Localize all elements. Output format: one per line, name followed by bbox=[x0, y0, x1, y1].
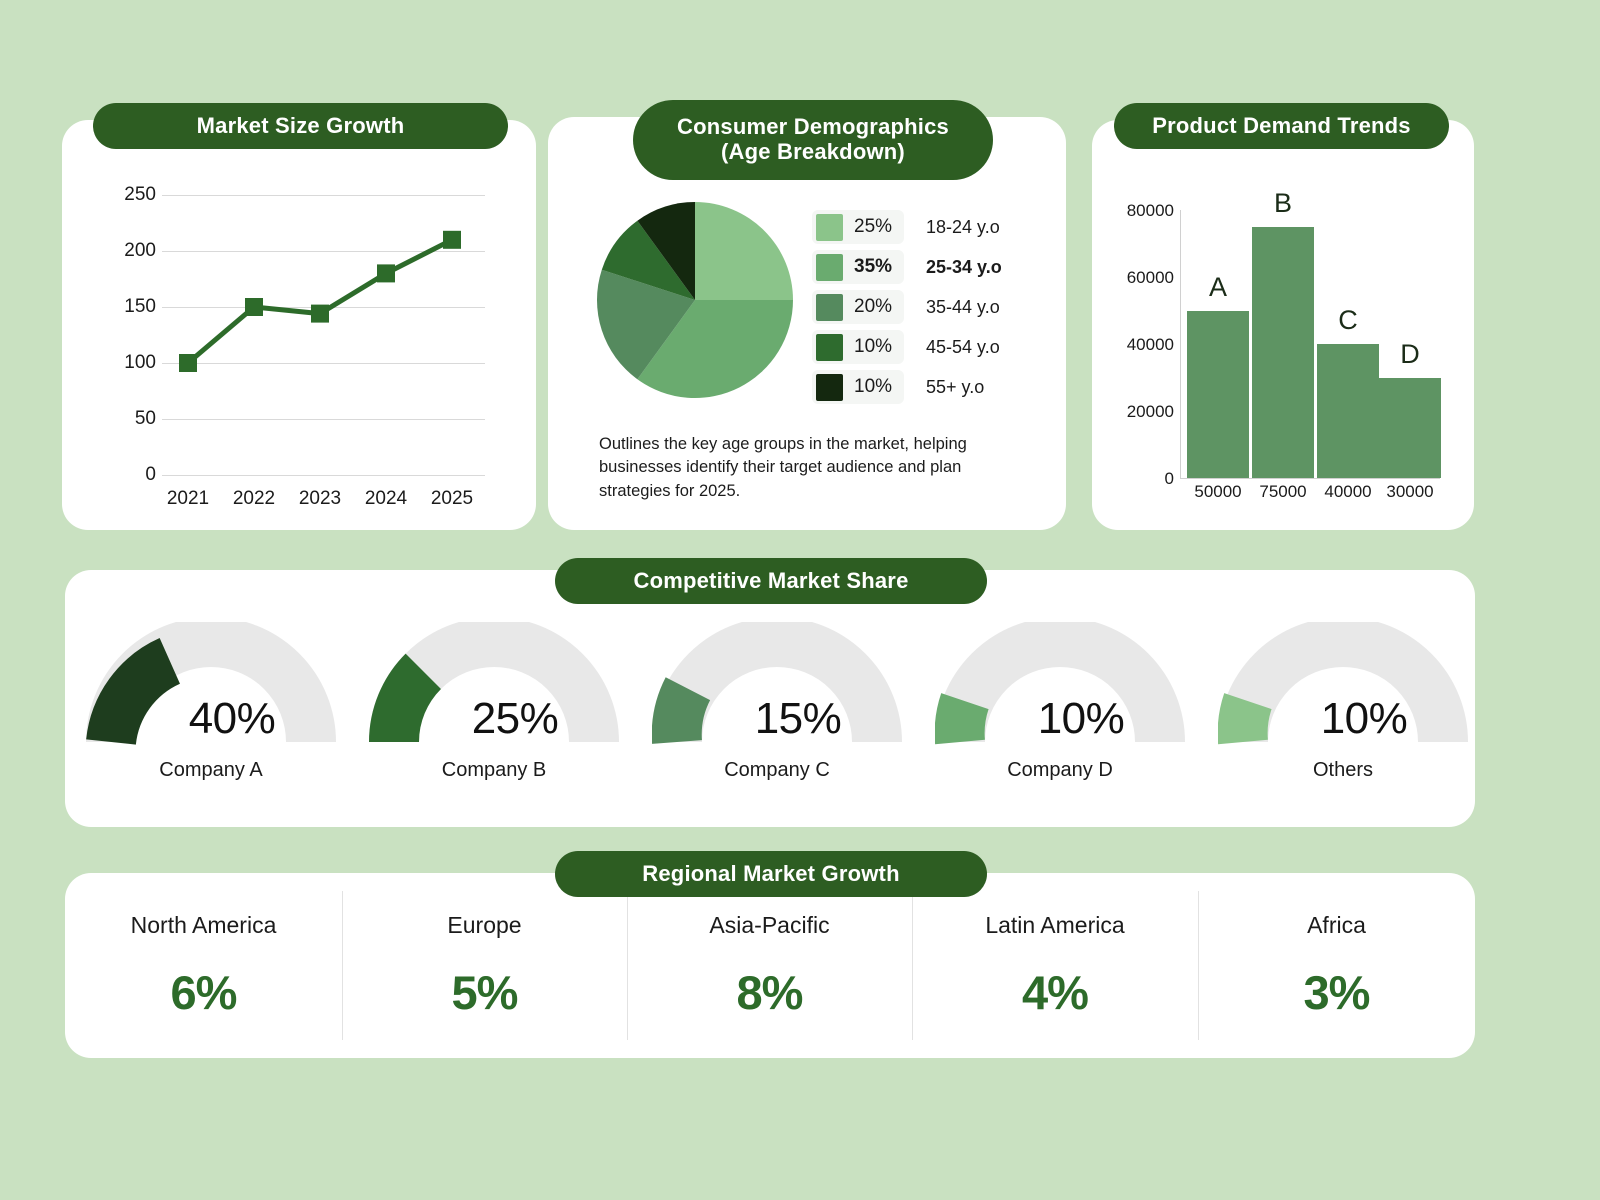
bar-d bbox=[1379, 378, 1441, 479]
x-axis-line bbox=[1180, 478, 1440, 479]
region-name: Asia-Pacific bbox=[709, 912, 829, 939]
region-north-america[interactable]: North America 6% bbox=[65, 873, 342, 1058]
market-share-title-badge: Competitive Market Share bbox=[555, 558, 987, 604]
bar-label-d: D bbox=[1380, 339, 1440, 370]
legend-item[interactable]: 20% 35-44 y.o bbox=[812, 290, 1052, 324]
gauge-value-others: 10% bbox=[1218, 694, 1468, 744]
gauge-label-company-a: Company A bbox=[86, 759, 336, 782]
region-name: Europe bbox=[447, 912, 521, 939]
legend-label: 45-54 y.o bbox=[926, 337, 1000, 358]
y-tick-0: 0 bbox=[1098, 469, 1174, 489]
gauge-company-c[interactable]: 15% Company C bbox=[652, 622, 902, 747]
legend-percent: 10% bbox=[854, 336, 892, 358]
demographics-pie-chart bbox=[595, 200, 795, 400]
legend-swatch-18-24 bbox=[816, 214, 843, 241]
market-size-title-badge: Market Size Growth bbox=[93, 103, 508, 149]
y-tick-60000: 60000 bbox=[1098, 268, 1174, 288]
x-tick-2021: 2021 bbox=[153, 488, 223, 510]
legend-pill: 10% bbox=[812, 330, 904, 364]
product-demand-title: Product Demand Trends bbox=[1152, 114, 1410, 139]
bar-c bbox=[1317, 344, 1379, 478]
legend-pill: 10% bbox=[812, 370, 904, 404]
legend-pill: 25% bbox=[812, 210, 904, 244]
bar-label-c: C bbox=[1318, 305, 1378, 336]
y-axis-line bbox=[1180, 210, 1181, 478]
legend-swatch-45-54 bbox=[816, 334, 843, 361]
gauge-others[interactable]: 10% Others bbox=[1218, 622, 1468, 747]
gauge-company-b[interactable]: 25% Company B bbox=[369, 622, 619, 747]
bar-a bbox=[1187, 311, 1249, 479]
legend-item[interactable]: 35% 25-34 y.o bbox=[812, 250, 1052, 284]
bar-label-a: A bbox=[1188, 272, 1248, 303]
regional-title-badge: Regional Market Growth bbox=[555, 851, 987, 897]
gauge-company-d[interactable]: 10% Company D bbox=[935, 622, 1185, 747]
gauge-label-company-d: Company D bbox=[935, 759, 1185, 782]
x-tick-2025: 2025 bbox=[417, 488, 487, 510]
region-africa[interactable]: Africa 3% bbox=[1198, 873, 1475, 1058]
market-size-title: Market Size Growth bbox=[197, 114, 405, 139]
demographics-description: Outlines the key age groups in the marke… bbox=[599, 433, 999, 503]
legend-label: 25-34 y.o bbox=[926, 257, 1002, 278]
market-size-chart: 250 200 150 100 50 0 2021 2022 2023 2024… bbox=[62, 150, 536, 530]
gauge-company-a[interactable]: 40% Company A bbox=[86, 622, 336, 747]
x-tick-2023: 2023 bbox=[285, 488, 355, 510]
legend-pill: 20% bbox=[812, 290, 904, 324]
legend-label: 35-44 y.o bbox=[926, 297, 1000, 318]
bar-label-b: B bbox=[1253, 188, 1313, 219]
product-demand-chart: 80000 60000 40000 20000 0 A B C D 50000 … bbox=[1092, 150, 1474, 530]
legend-item[interactable]: 25% 18-24 y.o bbox=[812, 210, 1052, 244]
legend-item[interactable]: 10% 45-54 y.o bbox=[812, 330, 1052, 364]
region-name: Latin America bbox=[985, 912, 1124, 939]
gauge-label-others: Others bbox=[1218, 759, 1468, 782]
y-tick-40000: 40000 bbox=[1098, 335, 1174, 355]
demographics-title-badge: Consumer Demographics (Age Breakdown) bbox=[633, 100, 993, 180]
legend-swatch-35-44 bbox=[816, 294, 843, 321]
bar-b bbox=[1252, 227, 1314, 478]
gauge-value-company-d: 10% bbox=[935, 694, 1185, 744]
region-name: Africa bbox=[1307, 912, 1366, 939]
region-name: North America bbox=[131, 912, 277, 939]
legend-percent: 10% bbox=[854, 376, 892, 398]
legend-percent: 20% bbox=[854, 296, 892, 318]
legend-percent: 35% bbox=[854, 256, 892, 278]
x-tick-30000: 30000 bbox=[1365, 482, 1455, 502]
gauge-value-company-a: 40% bbox=[86, 694, 336, 744]
regional-title: Regional Market Growth bbox=[642, 862, 899, 887]
region-value: 8% bbox=[737, 965, 803, 1020]
region-europe[interactable]: Europe 5% bbox=[342, 873, 627, 1058]
region-value: 3% bbox=[1304, 965, 1370, 1020]
region-value: 5% bbox=[452, 965, 518, 1020]
legend-pill: 35% bbox=[812, 250, 904, 284]
demographics-title-line2: (Age Breakdown) bbox=[721, 140, 905, 165]
region-latin-america[interactable]: Latin America 4% bbox=[912, 873, 1198, 1058]
x-tick-2022: 2022 bbox=[219, 488, 289, 510]
gauge-label-company-c: Company C bbox=[652, 759, 902, 782]
legend-label: 55+ y.o bbox=[926, 377, 984, 398]
legend-label: 18-24 y.o bbox=[926, 217, 1000, 238]
gauge-label-company-b: Company B bbox=[369, 759, 619, 782]
legend-swatch-25-34 bbox=[816, 254, 843, 281]
region-value: 4% bbox=[1022, 965, 1088, 1020]
x-tick-2024: 2024 bbox=[351, 488, 421, 510]
gauge-value-company-c: 15% bbox=[652, 694, 902, 744]
product-demand-title-badge: Product Demand Trends bbox=[1114, 103, 1449, 149]
y-tick-80000: 80000 bbox=[1098, 201, 1174, 221]
legend-swatch-55-plus bbox=[816, 374, 843, 401]
demographics-title-line1: Consumer Demographics bbox=[677, 115, 949, 140]
regional-card: North America 6% Europe 5% Asia-Pacific … bbox=[65, 873, 1475, 1058]
dashboard-root: Market Size Growth 250 200 150 100 50 0 … bbox=[0, 0, 1600, 1200]
market-share-title: Competitive Market Share bbox=[634, 569, 909, 594]
region-asia-pacific[interactable]: Asia-Pacific 8% bbox=[627, 873, 912, 1058]
gauge-value-company-b: 25% bbox=[369, 694, 619, 744]
market-size-line-svg bbox=[62, 150, 536, 530]
legend-percent: 25% bbox=[854, 216, 892, 238]
legend-item[interactable]: 10% 55+ y.o bbox=[812, 370, 1052, 404]
region-value: 6% bbox=[171, 965, 237, 1020]
demographics-legend: 25% 18-24 y.o 35% 25-34 y.o 20% 35-44 y.… bbox=[812, 210, 1052, 410]
y-tick-20000: 20000 bbox=[1098, 402, 1174, 422]
